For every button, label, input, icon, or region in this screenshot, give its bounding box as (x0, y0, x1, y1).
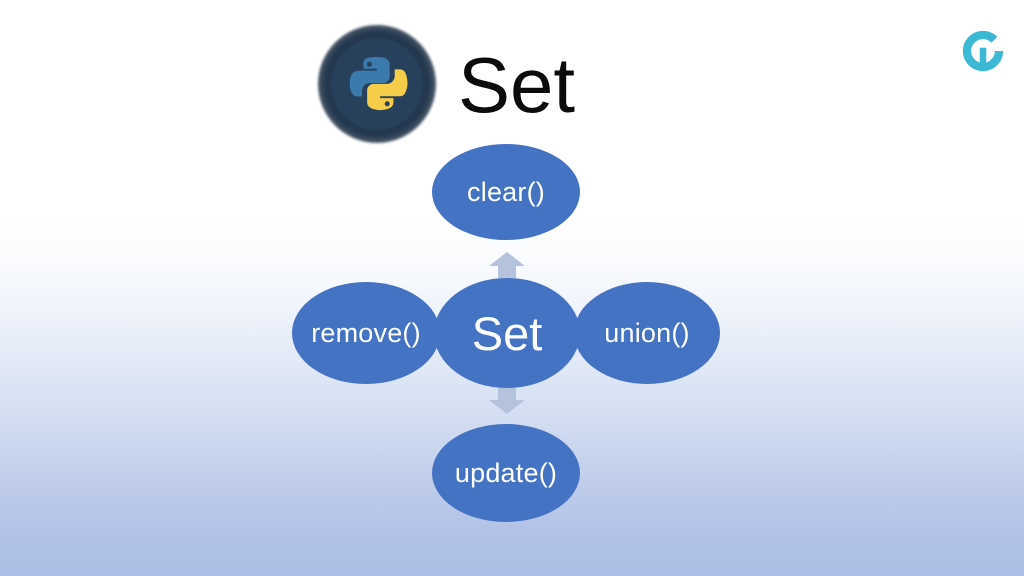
diagram-node-label: remove() (311, 320, 421, 347)
diagram-node-union[interactable]: union() (574, 282, 720, 384)
diagram-node-update[interactable]: update() (432, 424, 580, 522)
diagram-node-remove[interactable]: remove() (292, 282, 440, 384)
diagram-node-label: update() (455, 460, 557, 487)
diagram-node-label: clear() (467, 179, 545, 206)
diagram-center-label: Set (472, 310, 543, 357)
diagram-node-label: union() (604, 320, 689, 347)
diagram-node-clear[interactable]: clear() (432, 144, 580, 240)
set-methods-diagram: clear() remove() Set union() update() (0, 0, 1024, 576)
diagram-node-center-set[interactable]: Set (434, 278, 580, 388)
slide-canvas: Set clear() remove() Set union() update(… (0, 0, 1024, 576)
arrow-up-icon (489, 252, 525, 278)
arrow-down-icon (489, 388, 525, 414)
